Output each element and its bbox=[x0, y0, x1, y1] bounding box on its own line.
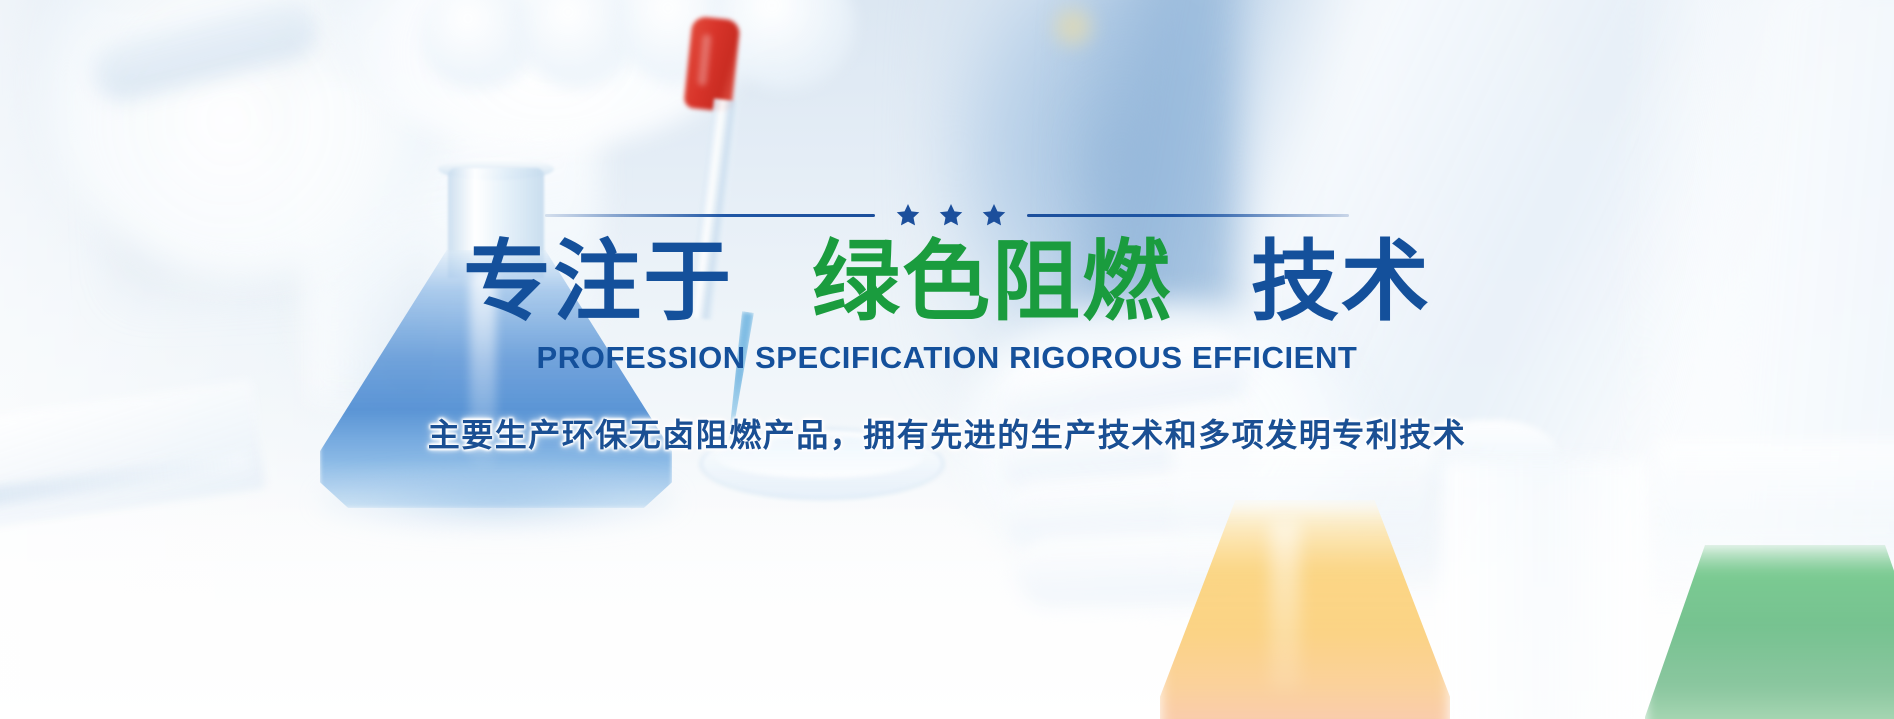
decorative-divider bbox=[0, 200, 1894, 230]
divider-rule-left bbox=[545, 214, 875, 217]
glove-finger bbox=[1003, 465, 1257, 554]
background-haze-bottom bbox=[0, 459, 1894, 719]
banner-subtitle-chinese: 主要生产环保无卤阻燃产品，拥有先进的生产技术和多项发明专利技术 bbox=[0, 410, 1894, 456]
banner-content: 专注于 绿色阻燃 技术 PROFESSION SPECIFICATION RIG… bbox=[0, 200, 1894, 456]
glove-knuckle bbox=[620, 0, 740, 86]
flask-orange-glass bbox=[1172, 440, 1432, 580]
title-part-3: 技术 bbox=[1251, 232, 1431, 331]
flask-green-glass bbox=[1655, 440, 1894, 600]
glove-knuckle bbox=[520, 0, 640, 90]
hero-banner: 专注于 绿色阻燃 技术 PROFESSION SPECIFICATION RIG… bbox=[0, 0, 1894, 719]
pipette-bulb-highlight bbox=[697, 34, 711, 87]
star-icon bbox=[981, 202, 1007, 228]
flask-blue-lip bbox=[438, 158, 554, 180]
shirt-button-icon bbox=[1052, 6, 1094, 48]
banner-title: 专注于 绿色阻燃 技术 bbox=[0, 238, 1894, 326]
lab-stand-shadow bbox=[255, 30, 435, 160]
pipette-bulb-icon bbox=[683, 16, 740, 113]
divider-rule-right bbox=[1027, 214, 1349, 217]
gloved-hand-pipette-icon bbox=[330, 0, 770, 150]
star-icon bbox=[895, 202, 921, 228]
tilted-beaker-opening bbox=[373, 5, 546, 146]
title-part-1: 专注于 bbox=[463, 232, 733, 331]
flask-blue-shadow bbox=[318, 470, 678, 530]
flask-orange-highlight bbox=[1270, 520, 1300, 690]
title-part-2: 绿色阻燃 bbox=[812, 232, 1172, 331]
notebook-edge bbox=[0, 451, 250, 510]
erlenmeyer-flask-orange-icon bbox=[1160, 500, 1450, 719]
star-group bbox=[895, 202, 1007, 228]
glove-finger bbox=[1014, 530, 1246, 608]
background-white-column bbox=[1440, 460, 1650, 719]
glove-knuckle bbox=[420, 0, 540, 90]
banner-subtitle-english: PROFESSION SPECIFICATION RIGOROUS EFFICI… bbox=[0, 340, 1894, 376]
glove-cuff-fold bbox=[86, 0, 324, 107]
star-icon bbox=[938, 202, 964, 228]
glove-knuckle bbox=[716, 0, 856, 90]
erlenmeyer-flask-green-icon bbox=[1645, 545, 1894, 719]
